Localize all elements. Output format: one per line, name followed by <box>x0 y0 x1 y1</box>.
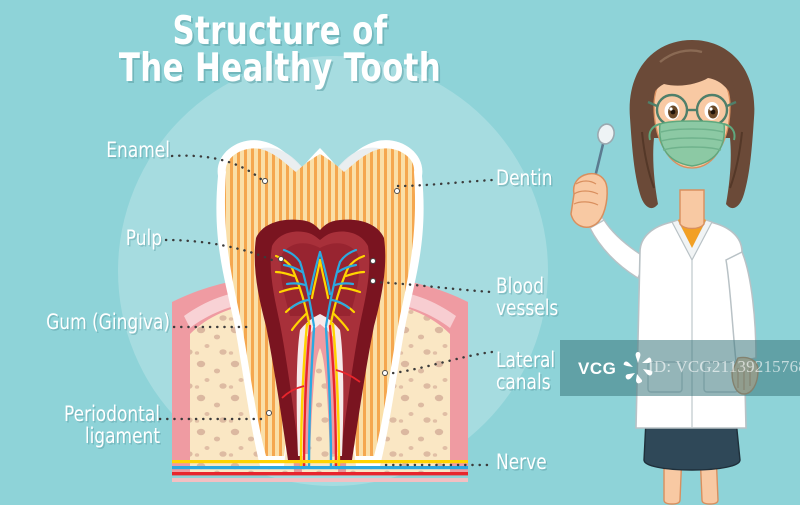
leader-gum <box>174 326 254 329</box>
leader-endpoint-pulp <box>278 256 284 262</box>
head <box>630 40 755 208</box>
leader-endpoint-periodontal <box>266 410 272 416</box>
leader-nerve <box>386 464 496 467</box>
leader-enamel <box>172 150 268 190</box>
label-periodontal-ligament: Periodontal ligament <box>16 404 160 448</box>
leader-endpoint-enamel <box>262 178 268 184</box>
leader-endpoint-dentin <box>394 188 400 194</box>
watermark-id: ID: VCG211392157681 <box>648 357 800 377</box>
page-title: Structure of The Healthy Tooth <box>34 14 527 87</box>
label-pulp: Pulp <box>16 228 162 250</box>
surgical-mask <box>649 121 734 166</box>
leader-endpoint-blood-vessels <box>370 278 376 284</box>
illustration-canvas: Structure of The Healthy Tooth <box>0 0 800 505</box>
label-lateral-canals: Lateral canals <box>496 350 555 394</box>
label-enamel: Enamel <box>17 140 170 162</box>
label-nerve: Nerve <box>496 452 547 474</box>
leader-endpoint-blood-vessels-2 <box>370 258 376 264</box>
leader-periodontal-ligament <box>160 418 268 421</box>
watermark-brand: VCG <box>578 359 616 379</box>
leader-pulp <box>166 240 278 243</box>
label-dentin: Dentin <box>496 168 553 190</box>
lab-coat <box>636 217 756 428</box>
label-gum: Gum (Gingiva) <box>17 312 170 334</box>
dentist-character <box>560 22 800 505</box>
leader-endpoint-lateral-canals <box>382 370 388 376</box>
mirror-head-icon <box>596 122 616 145</box>
dental-mirror-and-hand <box>571 122 616 227</box>
leader-dentin <box>398 182 496 185</box>
title-line-2: The Healthy Tooth <box>34 51 527 88</box>
label-blood-vessels: Blood vessels <box>496 276 558 320</box>
leader-lateral-canals <box>386 364 496 367</box>
neck <box>680 190 704 229</box>
leader-blood-vessels <box>374 290 496 293</box>
